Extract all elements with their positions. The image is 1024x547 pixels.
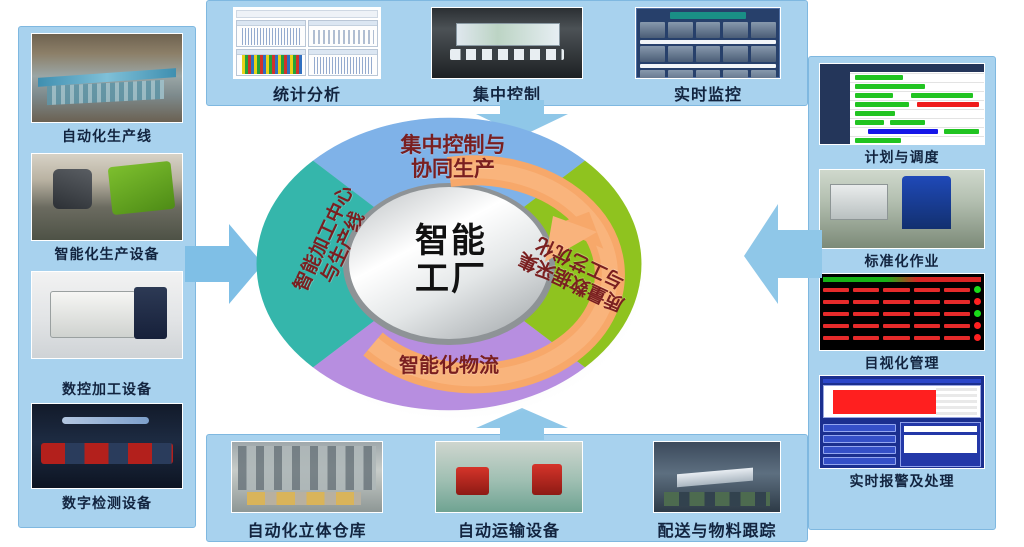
right-item-2-label: 目视化管理 — [817, 353, 987, 373]
production-line-photo — [31, 33, 183, 123]
top-item-0-label: 统计分析 — [233, 81, 381, 105]
left-item-0-label: 自动化生产线 — [21, 126, 193, 146]
wheel-segment-top-label: 集中控制与 协同生产 — [363, 134, 543, 181]
arrow-left-to-center — [185, 218, 263, 310]
left-item-3[interactable] — [31, 403, 183, 489]
top-panel-group: 统计分析 集中控制 实时监控 — [206, 0, 808, 106]
right-item-1[interactable] — [819, 169, 985, 249]
arrow-right-to-center — [744, 200, 822, 310]
bottom-item-2-label: 配送与物料跟踪 — [631, 517, 803, 541]
smart-factory-diagram: 统计分析 集中控制 实时监控 — [0, 0, 1024, 547]
cctv-grid-thumbnail — [635, 7, 781, 79]
left-panel-group: 自动化生产线 智能化生产设备 数控加工设备 数字检测设备 — [18, 26, 196, 528]
left-item-1-label: 智能化生产设备 — [21, 244, 193, 264]
top-item-2[interactable] — [635, 7, 781, 79]
smart-equipment-photo — [31, 153, 183, 241]
bottom-item-1[interactable] — [435, 441, 583, 513]
center-wheel: 集中控制与 协同生产 质量数据采集 与工艺优化 智能化物流 智能加工中心 与生产… — [253, 112, 649, 422]
bottom-panel-group: 自动化立体仓库 自动运输设备 配送与物料跟踪 — [206, 434, 808, 542]
dashboard-charts-thumbnail — [233, 7, 381, 79]
left-item-2[interactable] — [31, 271, 183, 359]
andon-board-thumbnail — [819, 273, 985, 351]
wheel-segment-bottom-label: 智能化物流 — [359, 354, 539, 376]
right-item-2[interactable] — [819, 273, 985, 351]
asrs-warehouse-photo — [231, 441, 383, 513]
top-item-2-label: 实时监控 — [635, 81, 781, 105]
center-label-line1: 智能 — [253, 224, 649, 260]
right-panel-group: 计划与调度 标准化作业 目视化管理 — [808, 56, 996, 530]
bottom-item-2[interactable] — [653, 441, 781, 513]
right-item-0-label: 计划与调度 — [817, 147, 987, 167]
material-tracking-photo — [653, 441, 781, 513]
right-item-0[interactable] — [819, 63, 985, 145]
bottom-item-0[interactable] — [231, 441, 383, 513]
top-item-1[interactable] — [431, 7, 583, 79]
left-item-3-label: 数字检测设备 — [21, 493, 193, 513]
right-item-3-label: 实时报警及处理 — [811, 471, 993, 491]
alarm-console-thumbnail — [819, 375, 985, 469]
center-label-line2: 工厂 — [253, 262, 649, 298]
gantt-schedule-thumbnail — [819, 63, 985, 145]
control-room-photo — [431, 7, 583, 79]
left-item-1[interactable] — [31, 153, 183, 241]
left-item-0[interactable] — [31, 33, 183, 123]
right-item-1-label: 标准化作业 — [817, 251, 987, 271]
digital-inspection-photo — [31, 403, 183, 489]
bottom-item-0-label: 自动化立体仓库 — [221, 517, 393, 541]
left-item-2-label: 数控加工设备 — [21, 379, 193, 399]
bottom-item-1-label: 自动运输设备 — [425, 517, 593, 541]
cnc-machine-photo — [31, 271, 183, 359]
top-item-0[interactable] — [233, 7, 381, 79]
standard-work-photo — [819, 169, 985, 249]
right-item-3[interactable] — [819, 375, 985, 469]
agv-forklift-photo — [435, 441, 583, 513]
